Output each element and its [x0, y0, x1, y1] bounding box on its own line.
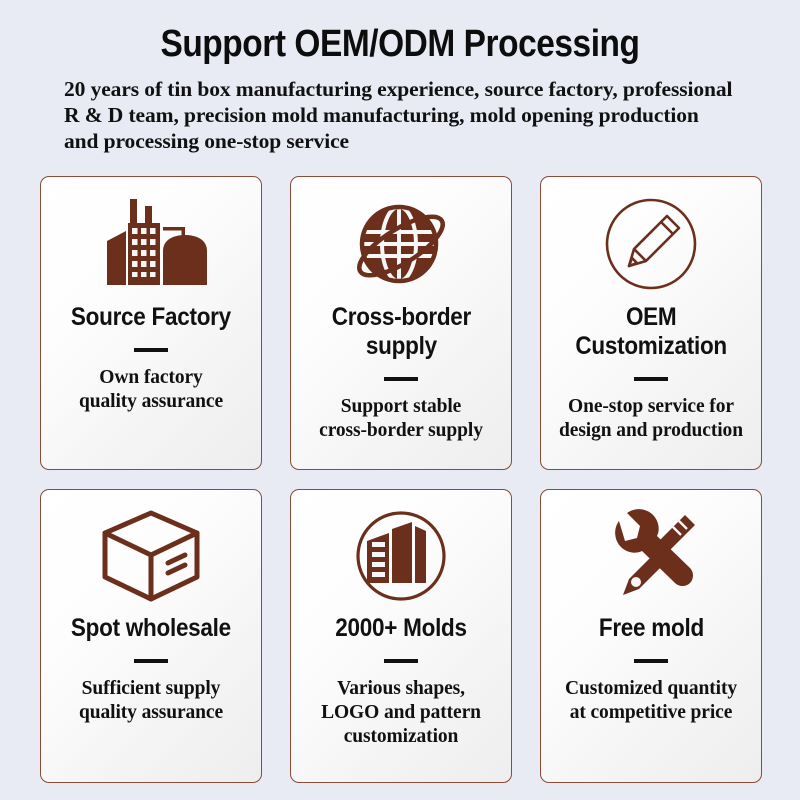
card-divider	[384, 659, 418, 663]
card-divider	[634, 377, 668, 381]
card-description: One-stop service for design and producti…	[551, 395, 751, 443]
card-title: OEM Customization	[570, 303, 732, 361]
card-divider	[634, 659, 668, 663]
card-divider	[134, 659, 168, 663]
page-title: Support OEM/ODM Processing	[48, 22, 752, 66]
card-title: Spot wholesale	[66, 614, 237, 643]
card-description: Sufficient supply quality assurance	[71, 677, 231, 725]
header: Support OEM/ODM Processing 20 years of t…	[0, 0, 800, 154]
package-box-icon	[97, 498, 205, 614]
pencil-circle-icon	[603, 185, 699, 303]
feature-card-free-mold[interactable]: Free mold Customized quantity at competi…	[540, 489, 762, 783]
card-description: Own factory quality assurance	[71, 366, 231, 414]
card-title: 2000+ Molds	[330, 614, 472, 643]
feature-card-source-factory[interactable]: Source Factory Own factory quality assur…	[40, 176, 262, 470]
feature-card-oem-customization[interactable]: OEM Customization One-stop service for d…	[540, 176, 762, 470]
infographic-page: Support OEM/ODM Processing 20 years of t…	[0, 0, 800, 800]
card-description: Customized quantity at competitive price	[557, 677, 745, 725]
card-description: Support stable cross-border supply	[311, 395, 491, 443]
card-divider	[134, 348, 168, 352]
feature-card-grid: Source Factory Own factory quality assur…	[40, 176, 762, 783]
feature-card-spot-wholesale[interactable]: Spot wholesale Sufficient supply quality…	[40, 489, 262, 783]
card-title: Source Factory	[66, 303, 237, 332]
feature-card-molds[interactable]: 2000+ Molds Various shapes, LOGO and pat…	[290, 489, 512, 783]
card-description: Various shapes, LOGO and pattern customi…	[313, 677, 489, 749]
card-divider	[384, 377, 418, 381]
card-title: Cross-border supply	[326, 303, 476, 361]
factory-icon	[93, 185, 209, 303]
feature-card-cross-border-supply[interactable]: Cross-border supply Support stable cross…	[290, 176, 512, 470]
wrench-screwdriver-icon	[599, 498, 703, 614]
buildings-circle-icon	[354, 498, 448, 614]
page-subtitle: 20 years of tin box manufacturing experi…	[64, 76, 736, 154]
globe-supply-icon	[349, 185, 453, 303]
card-title: Free mold	[593, 614, 709, 643]
